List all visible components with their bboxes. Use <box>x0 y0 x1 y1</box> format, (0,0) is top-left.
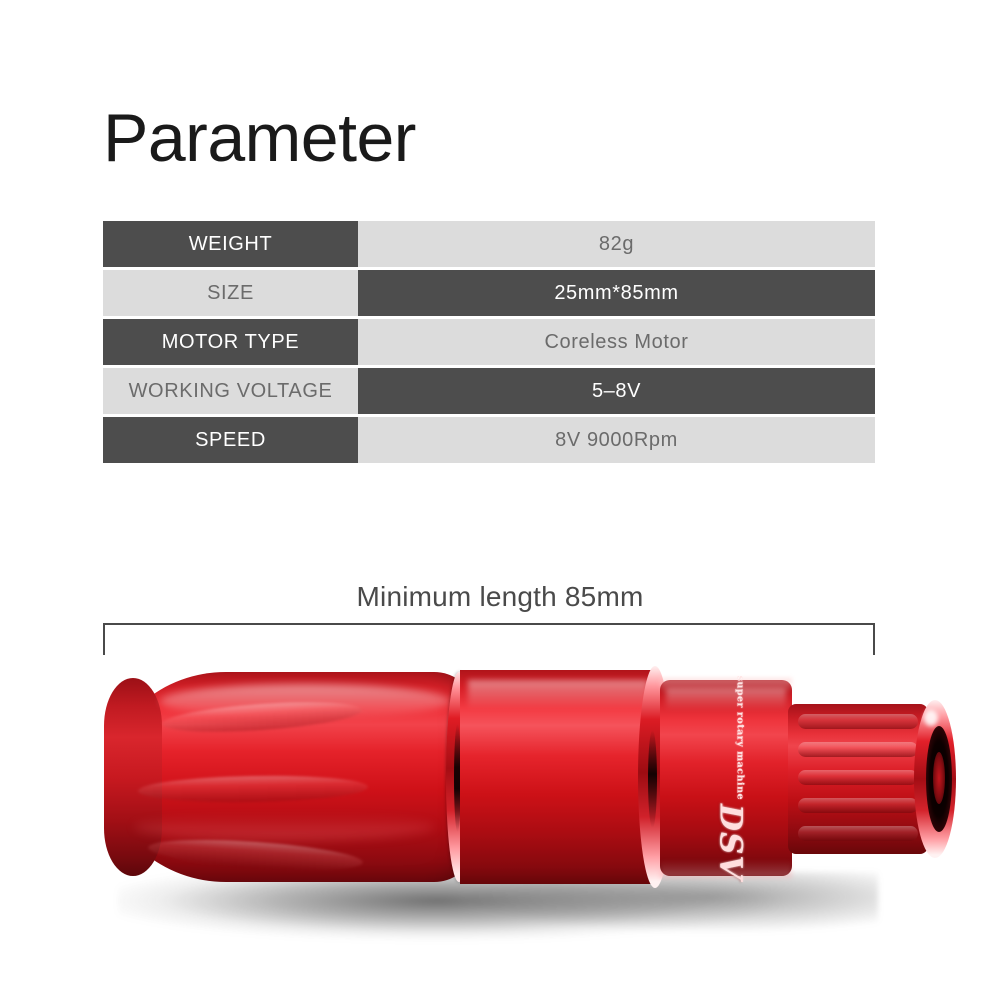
spec-label-cell: MOTOR TYPE <box>103 319 358 365</box>
spec-value-cell: 82g <box>358 221 875 267</box>
tattoo-pen-machine: super rotary machine DSV <box>108 664 880 894</box>
tip-highlight <box>924 710 938 726</box>
tube-highlight <box>468 680 648 708</box>
spec-label-cell: SIZE <box>103 270 358 316</box>
spec-label-cell: WORKING VOLTAGE <box>103 368 358 414</box>
brand-engraving: super rotary machine DSV <box>700 700 760 856</box>
table-row: MOTOR TYPE Coreless Motor <box>103 319 875 365</box>
spec-label-cell: WEIGHT <box>103 221 358 267</box>
collar-ring-shadow <box>648 730 657 828</box>
grip-flute <box>798 742 918 757</box>
needle-tip-inner <box>933 752 945 804</box>
length-caption: Minimum length 85mm <box>0 581 1000 613</box>
brand-tagline: super rotary machine <box>734 676 745 800</box>
spec-value-cell: 25mm*85mm <box>358 270 875 316</box>
spec-table: WEIGHT 82g SIZE 25mm*85mm MOTOR TYPE Cor… <box>103 221 875 466</box>
grip-flute <box>798 798 918 813</box>
table-row: WEIGHT 82g <box>103 221 875 267</box>
spec-value-cell: 5–8V <box>358 368 875 414</box>
table-row: WORKING VOLTAGE 5–8V <box>103 368 875 414</box>
page-title: Parameter <box>103 104 416 172</box>
grip-flute <box>798 826 918 841</box>
table-row: SIZE 25mm*85mm <box>103 270 875 316</box>
grip-flute <box>798 714 918 729</box>
spec-value-cell: Coreless Motor <box>358 319 875 365</box>
barrel-underglow <box>134 814 434 840</box>
table-row: SPEED 8V 9000Rpm <box>103 417 875 463</box>
spec-label-cell: SPEED <box>103 417 358 463</box>
brand-logo: DSV <box>712 804 748 880</box>
product-image: super rotary machine DSV <box>0 640 1000 980</box>
grip-flute <box>798 770 918 785</box>
spec-value-cell: 8V 9000Rpm <box>358 417 875 463</box>
product-spec-page: Parameter WEIGHT 82g SIZE 25mm*85mm MOTO… <box>0 0 1000 1000</box>
